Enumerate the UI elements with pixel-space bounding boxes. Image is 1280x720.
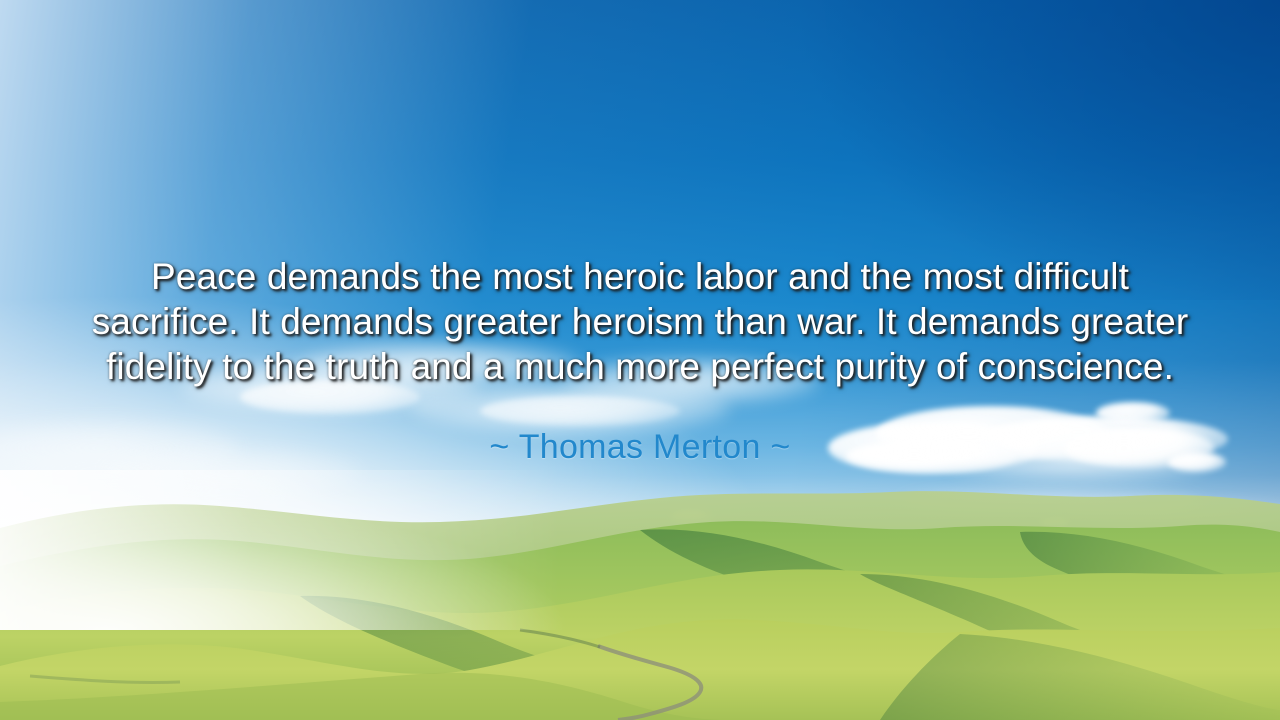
quote-author: ~ Thomas Merton ~ <box>489 427 790 467</box>
quote-image-canvas: Peace demands the most heroic labor and … <box>0 0 1280 720</box>
quote-text: Peace demands the most heroic labor and … <box>90 254 1190 389</box>
quote-content-block: Peace demands the most heroic labor and … <box>0 0 1280 720</box>
